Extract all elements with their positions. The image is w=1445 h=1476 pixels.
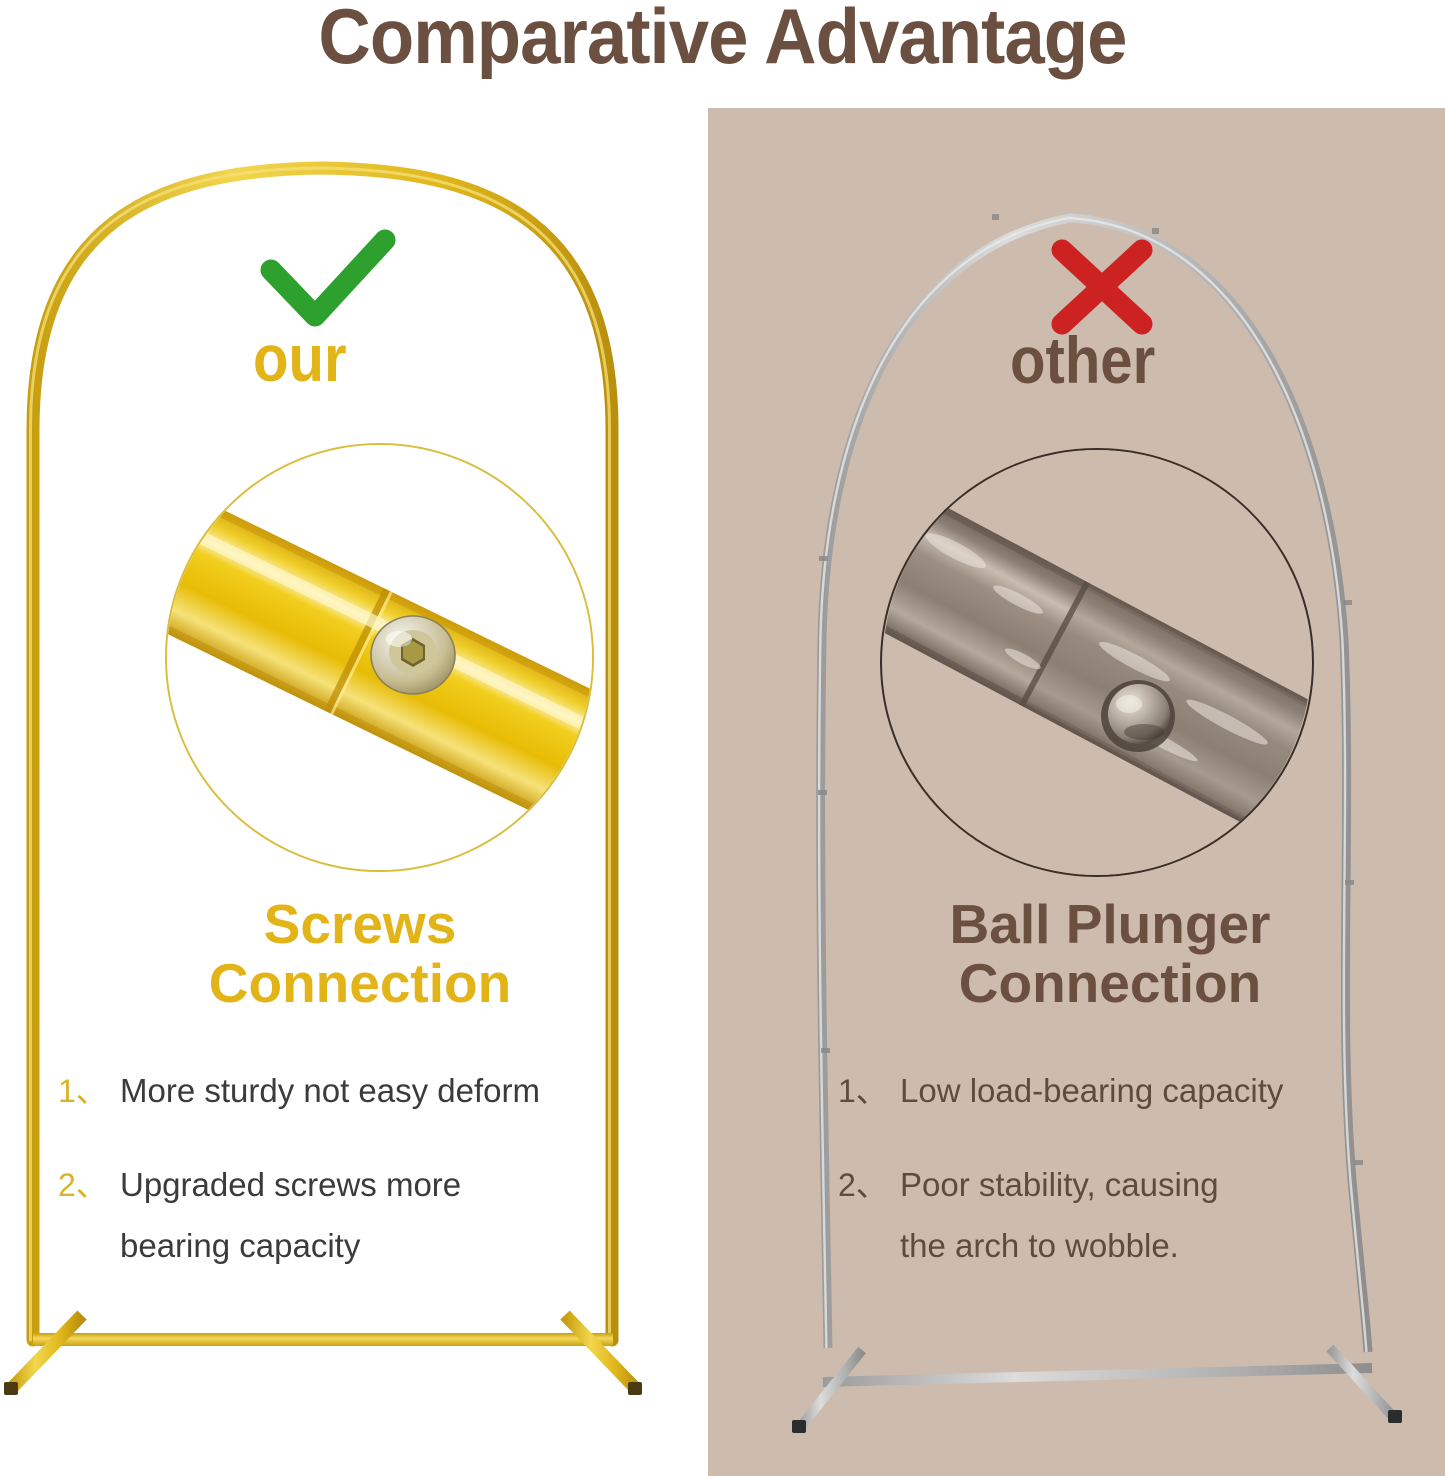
left-label-our: our xyxy=(253,325,347,391)
left-connection-heading: Screws Connection xyxy=(80,895,640,1014)
list-item: 1、 More sturdy not easy deform xyxy=(58,1060,658,1121)
list-item: 2、 Poor stability, causing the arch to w… xyxy=(838,1154,1418,1276)
comparison-infographic: Comparative Advantage xyxy=(0,0,1445,1476)
list-item: 2、 Upgraded screws more bearing capacity xyxy=(58,1154,658,1276)
list-item-number: 1、 xyxy=(838,1075,900,1107)
right-drawback-list: 1、 Low load-bearing capacity 2、 Poor sta… xyxy=(838,1060,1418,1309)
left-benefit-list: 1、 More sturdy not easy deform 2、 Upgrad… xyxy=(58,1060,658,1309)
right-connection-heading: Ball Plunger Connection xyxy=(840,895,1380,1014)
list-item-number: 1、 xyxy=(58,1075,120,1107)
list-item-number: 2、 xyxy=(58,1169,120,1201)
grey-tube-ball-plunger-joint-photo xyxy=(880,448,1314,877)
list-item-text: Low load-bearing capacity xyxy=(900,1060,1418,1121)
list-item: 1、 Low load-bearing capacity xyxy=(838,1060,1418,1121)
list-item-number: 2、 xyxy=(838,1169,900,1201)
list-item-text: More sturdy not easy deform xyxy=(120,1060,658,1121)
list-item-text: Upgraded screws more bearing capacity xyxy=(120,1154,658,1276)
right-label-other: other xyxy=(1010,327,1155,393)
yellow-tube-screw-joint-photo xyxy=(165,443,594,872)
list-item-text: Poor stability, causing the arch to wobb… xyxy=(900,1154,1418,1276)
page-title: Comparative Advantage xyxy=(51,0,1395,78)
